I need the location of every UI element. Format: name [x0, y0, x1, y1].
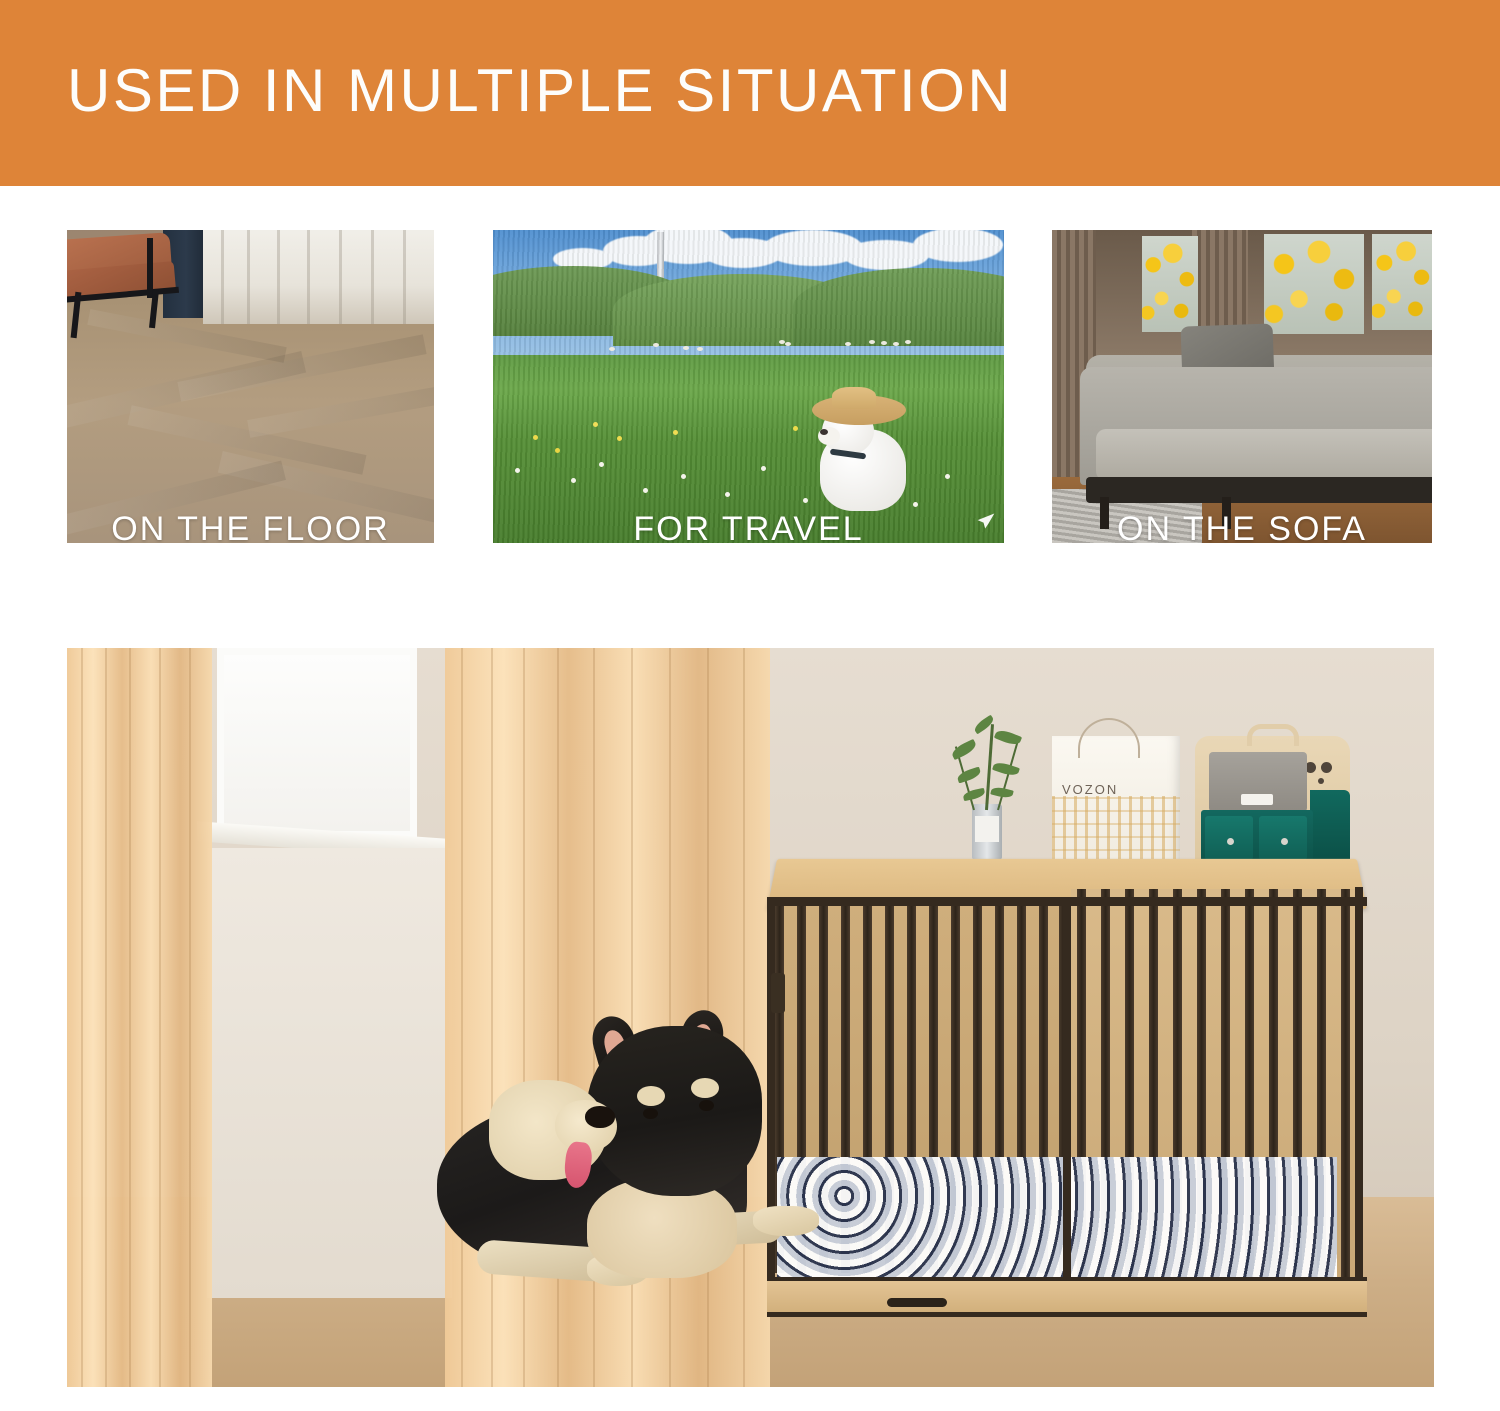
window-far-right — [1372, 234, 1432, 330]
dog-with-straw-hat — [810, 387, 920, 512]
window-left — [1142, 236, 1198, 332]
page-title: USED IN MULTIPLE SITUATION — [67, 56, 1013, 125]
sofa-seat — [1096, 429, 1432, 481]
travel-scene-image — [493, 230, 1004, 543]
hero-image-for-dog-crate[interactable]: VOZON — [67, 648, 1434, 1387]
malamute-dog — [437, 1008, 887, 1358]
gift-bag: VOZON — [1052, 736, 1180, 864]
sofa-scene-image — [1052, 230, 1432, 543]
gift-bag-brand-text: VOZON — [1062, 782, 1118, 797]
paper-plane-icon — [976, 511, 996, 531]
white-wall-panel — [207, 848, 452, 1298]
floor-scene-image — [67, 230, 434, 543]
header-banner: USED IN MULTIPLE SITUATION — [0, 0, 1500, 186]
thumbnail-on-the-floor[interactable]: ON THE FLOOR — [67, 230, 434, 543]
pet-carrier-backpack — [1195, 736, 1350, 868]
sheer-curtain — [203, 230, 434, 324]
plant-pot-can — [972, 804, 1002, 860]
window — [217, 648, 417, 838]
window-right — [1264, 234, 1364, 334]
thumbnail-for-travel[interactable]: FOR TRAVEL — [493, 230, 1004, 543]
thumbnail-on-the-sofa[interactable]: ON THE SOFA — [1052, 230, 1432, 543]
curtain-left — [67, 648, 212, 1387]
leather-armchair — [67, 230, 185, 348]
crate-drawer-handle[interactable] — [887, 1298, 947, 1307]
crate-latch[interactable] — [771, 973, 785, 1013]
